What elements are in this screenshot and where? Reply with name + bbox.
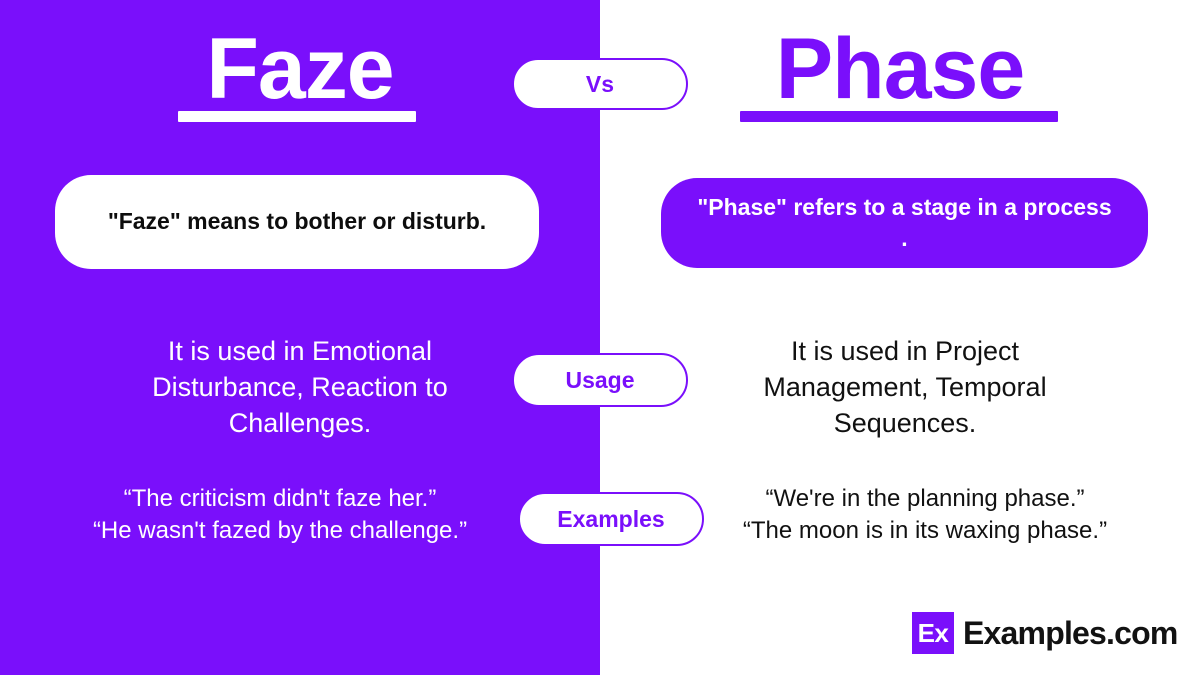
text-line: It is used in Project	[700, 334, 1110, 370]
usage-row-badge-label: Usage	[565, 367, 634, 394]
text-line: Management, Temporal	[700, 370, 1110, 406]
right-definition-text: "Phase" refers to a stage in a process .	[695, 192, 1114, 254]
left-examples-text: “The criticism didn't faze her.” “He was…	[50, 483, 510, 547]
right-definition-card: "Phase" refers to a stage in a process .	[661, 178, 1148, 268]
text-line: Challenges.	[100, 406, 500, 442]
examples-row-badge: Examples	[518, 492, 704, 546]
text-line: “He wasn't fazed by the challenge.”	[50, 515, 510, 547]
left-definition-text: "Faze" means to bother or disturb.	[108, 206, 486, 237]
right-usage-text: It is used in Project Management, Tempor…	[700, 334, 1110, 442]
text-line: “The criticism didn't faze her.”	[50, 483, 510, 515]
text-line: It is used in Emotional	[100, 334, 500, 370]
brand-mark-icon: Ex	[912, 612, 954, 654]
left-title-underline	[178, 111, 416, 122]
brand-logo: Ex Examples.com	[912, 612, 1178, 654]
text-line: Sequences.	[700, 406, 1110, 442]
left-usage-text: It is used in Emotional Disturbance, Rea…	[100, 334, 500, 442]
vs-badge-label: Vs	[586, 71, 614, 98]
usage-row-badge: Usage	[512, 353, 688, 407]
right-term-title: Phase	[600, 26, 1200, 112]
vs-badge: Vs	[512, 58, 688, 110]
brand-name-label: Examples.com	[963, 615, 1178, 652]
left-term-title: Faze	[0, 26, 600, 112]
infographic-canvas: Faze Phase Vs "Faze" means to bother or …	[0, 0, 1200, 675]
left-definition-card: "Faze" means to bother or disturb.	[55, 175, 539, 269]
text-line: “The moon is in its waxing phase.”	[690, 515, 1160, 547]
right-title-underline	[740, 111, 1058, 122]
text-line: “We're in the planning phase.”	[690, 483, 1160, 515]
text-line: Disturbance, Reaction to	[100, 370, 500, 406]
examples-row-badge-label: Examples	[557, 506, 664, 533]
right-examples-text: “We're in the planning phase.” “The moon…	[690, 483, 1160, 547]
